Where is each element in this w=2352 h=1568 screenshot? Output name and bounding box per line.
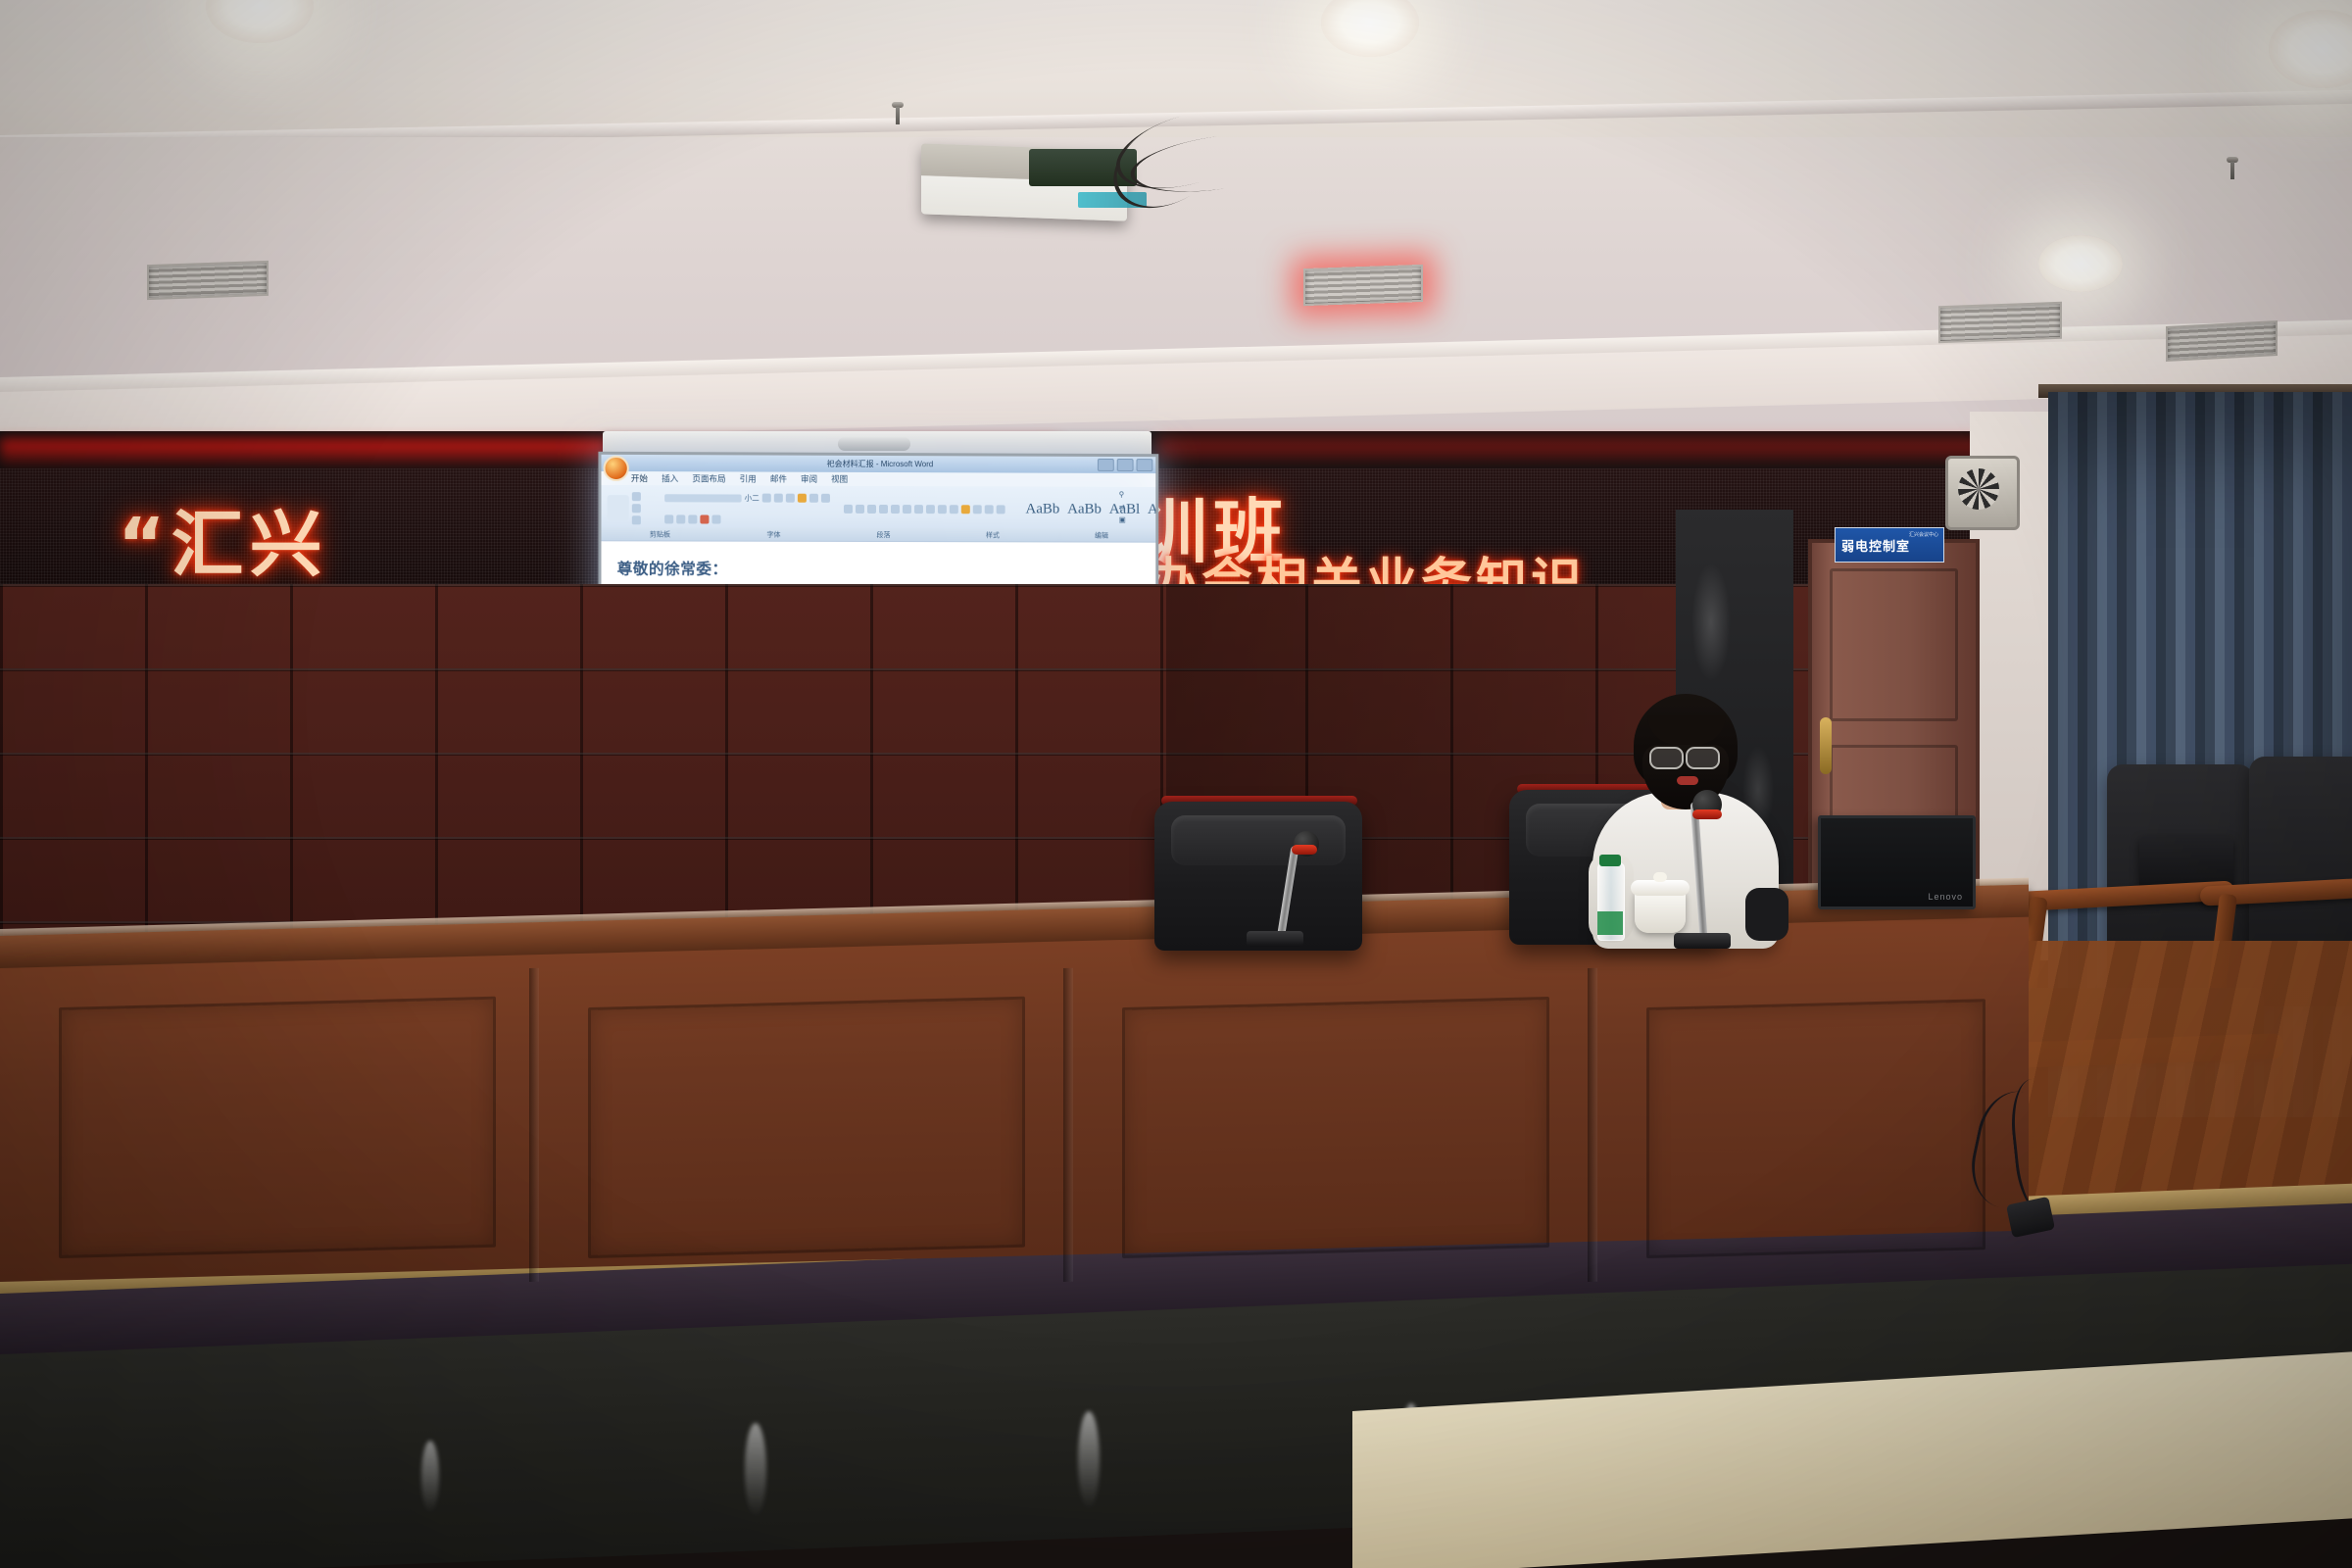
conference-hall-photo: “汇兴 训班 办会相关业务知识 祀会材料汇报 - Microsoft Word … (0, 0, 2352, 1568)
rostrum-panel (1122, 997, 1549, 1258)
door-handle-icon[interactable] (1820, 717, 1832, 774)
grow-font-icon[interactable] (762, 494, 771, 503)
tea-cup-knob (1653, 872, 1667, 882)
align-right-icon[interactable] (950, 505, 958, 514)
office-orb-icon[interactable] (604, 456, 629, 481)
italic-icon[interactable] (809, 494, 818, 503)
window-controls[interactable] (1098, 459, 1152, 471)
maximize-icon[interactable] (1117, 459, 1134, 471)
rostrum-divider (529, 968, 539, 1282)
group-label-font: 字体 (766, 529, 780, 539)
wall-sign-control-room: 弱电控制室 汇兴会议中心 (1835, 527, 1944, 563)
led-banner-left: “汇兴 (0, 468, 606, 584)
find-icon[interactable]: ⚲ (1119, 490, 1124, 499)
led-banner-left-text: “汇兴 (118, 486, 328, 584)
rostrum-divider (1063, 968, 1073, 1282)
sprinkler-head-icon (892, 102, 904, 127)
underline-icon[interactable] (821, 494, 830, 503)
sprinkler-head-icon (2227, 157, 2238, 182)
style-normal[interactable]: AaBb (1026, 501, 1060, 517)
align-center-icon[interactable] (938, 505, 947, 514)
ribbon-group-font[interactable]: 小二 (664, 488, 832, 528)
ceiling-downlight (2038, 235, 2123, 292)
ribbon-group-styles[interactable]: AaBb AaBb AaBl A (1026, 490, 1158, 529)
speaker-arm-right (1745, 888, 1788, 941)
show-marks-icon[interactable] (914, 505, 923, 514)
speaker-microphone-ring (1692, 809, 1722, 819)
justify-icon[interactable] (961, 505, 970, 514)
word-titlebar: 祀会材料汇报 - Microsoft Word (602, 455, 1156, 473)
laptop[interactable]: Lenovo (1818, 815, 1976, 909)
ribbon-group-labels: 剪贴板 字体 段落 样式 编辑 (602, 527, 1156, 541)
speaker-glasses-left (1649, 747, 1684, 769)
group-label-clipboard: 剪贴板 (650, 529, 670, 539)
clear-format-icon[interactable] (786, 494, 795, 503)
format-painter-icon[interactable] (632, 515, 641, 524)
shading-icon[interactable] (985, 505, 994, 514)
ribbon-group-paragraph[interactable] (844, 489, 1020, 529)
stage-reflection (745, 1423, 766, 1517)
wall-sign-subtext: 汇兴会议中心 (1909, 531, 1938, 538)
rostrum-panel (1646, 999, 1985, 1258)
select-icon[interactable]: ▣ (1119, 515, 1126, 524)
superscript-icon[interactable] (688, 514, 697, 523)
line-spacing-icon[interactable] (973, 505, 982, 514)
ceiling-air-vent (2166, 320, 2278, 362)
close-icon[interactable] (1137, 459, 1153, 471)
group-label-editing: 编辑 (1095, 530, 1108, 540)
change-styles-icon[interactable]: A (1148, 501, 1158, 517)
multilevel-list-icon[interactable] (867, 504, 876, 513)
speaker-glasses-right (1686, 747, 1720, 769)
style-nospacing[interactable]: AaBb (1067, 501, 1102, 517)
bullets-icon[interactable] (844, 504, 853, 513)
water-bottle-cap (1599, 855, 1621, 866)
ceiling-air-vent-lit (1303, 265, 1423, 306)
laptop-brand-label: Lenovo (1928, 892, 1963, 902)
word-title-text: 祀会材料汇报 - Microsoft Word (827, 459, 934, 469)
wall-exhaust-fan-icon (1945, 456, 2020, 530)
replace-icon[interactable]: ⇄ (1119, 503, 1125, 512)
ribbon-group-clipboard[interactable] (608, 488, 641, 527)
paste-icon[interactable] (608, 495, 629, 520)
document-salutation: 尊敬的徐常委： (617, 555, 1141, 583)
wall-sign-text: 弱电控制室 (1841, 536, 1910, 555)
stage-reflection (1078, 1411, 1100, 1509)
projection-screen-roller (838, 437, 910, 451)
bold-icon[interactable] (798, 494, 807, 503)
desk-microphone-left-base (1247, 931, 1303, 947)
cut-icon[interactable] (632, 492, 641, 501)
door-panel-top (1830, 568, 1958, 721)
tea-cup[interactable] (1635, 890, 1686, 933)
strikethrough-icon[interactable] (664, 514, 673, 523)
align-left-icon[interactable] (926, 505, 935, 514)
ceiling-air-vent (147, 261, 269, 300)
highlight-icon[interactable] (711, 514, 720, 523)
font-name-box[interactable] (664, 494, 742, 502)
font-size-value[interactable]: 小二 (745, 493, 759, 504)
subscript-icon[interactable] (676, 514, 685, 523)
ceiling-air-vent (1938, 302, 2062, 343)
numbering-icon[interactable] (856, 504, 864, 513)
rostrum-panel (588, 997, 1025, 1258)
group-label-styles: 样式 (986, 530, 1000, 540)
font-color-icon[interactable] (700, 514, 709, 523)
group-label-paragraph: 段落 (876, 529, 890, 539)
ribbon-group-editing[interactable]: ⚲ ⇄ ▣ (1119, 490, 1126, 529)
increase-indent-icon[interactable] (891, 505, 900, 514)
rostrum-panel (59, 997, 496, 1258)
led-banner-line2-text: 办会相关业务知识 (1147, 541, 1586, 584)
tea-cup-lid (1631, 880, 1690, 896)
sort-icon[interactable] (903, 505, 911, 514)
minimize-icon[interactable] (1098, 459, 1114, 471)
speaker-microphone-base (1674, 933, 1731, 949)
decrease-indent-icon[interactable] (879, 504, 888, 513)
speaker-lips (1677, 776, 1698, 785)
rostrum-divider (1588, 968, 1597, 1282)
borders-icon[interactable] (997, 505, 1005, 514)
desk-microphone-left-ring (1292, 845, 1317, 855)
presider-chair-left[interactable] (1154, 802, 1362, 951)
shrink-font-icon[interactable] (774, 494, 783, 503)
copy-icon[interactable] (632, 504, 641, 513)
stage-reflection (421, 1441, 439, 1513)
water-bottle-label (1597, 911, 1623, 935)
